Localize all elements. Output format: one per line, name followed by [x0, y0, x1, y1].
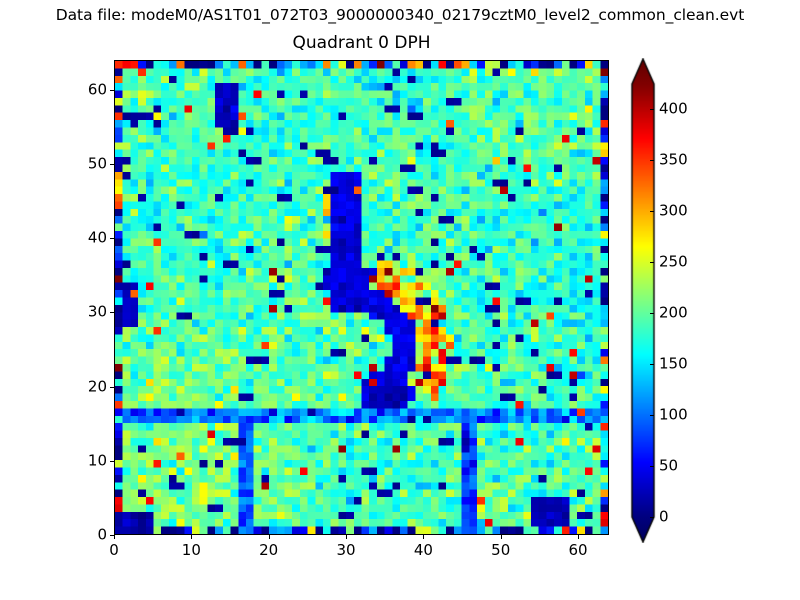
- colorbar-tick-mark: [650, 160, 654, 161]
- colorbar-tick-label: 250: [659, 254, 688, 271]
- colorbar-tick-label: 50: [659, 458, 678, 475]
- data-file-caption: Data file: modeM0/AS1T01_072T03_90000003…: [0, 6, 800, 25]
- colorbar-tick-mark: [650, 262, 654, 263]
- colorbar-tick-mark: [650, 466, 654, 467]
- colorbar-tick-mark: [650, 211, 654, 212]
- colorbar-tick-mark: [650, 415, 654, 416]
- colorbar-tick-label: 350: [659, 152, 688, 169]
- y-tick-mark: [110, 90, 114, 91]
- colorbar-tick-label: 0: [659, 509, 669, 526]
- colorbar-tick-mark: [650, 313, 654, 314]
- x-tick-mark: [578, 535, 579, 539]
- x-tick-mark: [346, 535, 347, 539]
- colorbar-tick-mark: [650, 109, 654, 110]
- colorbar-tick-label: 100: [659, 407, 688, 424]
- figure-canvas: Data file: modeM0/AS1T01_072T03_90000003…: [0, 0, 800, 600]
- y-tick-mark: [110, 312, 114, 313]
- y-tick-mark: [110, 164, 114, 165]
- x-tick-label: 20: [259, 542, 278, 559]
- colorbar[interactable]: [626, 58, 660, 543]
- colorbar-tick-label: 400: [659, 101, 688, 118]
- x-tick-label: 10: [182, 542, 201, 559]
- x-tick-label: 40: [414, 542, 433, 559]
- y-tick-label: 30: [88, 304, 107, 321]
- heatmap-axes[interactable]: [114, 60, 609, 535]
- y-tick-label: 40: [88, 230, 107, 247]
- y-tick-label: 0: [97, 527, 107, 544]
- y-tick-label: 10: [88, 452, 107, 469]
- y-tick-mark: [110, 387, 114, 388]
- y-tick-mark: [110, 238, 114, 239]
- x-tick-label: 50: [491, 542, 510, 559]
- colorbar-tick-label: 150: [659, 356, 688, 373]
- page-title: Quadrant 0 DPH: [114, 33, 609, 54]
- x-tick-label: 60: [569, 542, 588, 559]
- colorbar-tick-mark: [650, 364, 654, 365]
- y-tick-label: 60: [88, 81, 107, 98]
- x-tick-mark: [269, 535, 270, 539]
- x-tick-label: 0: [109, 542, 119, 559]
- x-tick-mark: [501, 535, 502, 539]
- y-tick-mark: [110, 461, 114, 462]
- y-tick-label: 20: [88, 378, 107, 395]
- x-tick-mark: [114, 535, 115, 539]
- y-tick-label: 50: [88, 155, 107, 172]
- colorbar-tick-label: 300: [659, 203, 688, 220]
- heatmap-image[interactable]: [115, 61, 608, 534]
- colorbar-tick-mark: [650, 517, 654, 518]
- x-tick-mark: [191, 535, 192, 539]
- colorbar-gradient: [626, 58, 660, 543]
- x-tick-mark: [423, 535, 424, 539]
- x-tick-label: 30: [336, 542, 355, 559]
- colorbar-tick-label: 200: [659, 305, 688, 322]
- y-tick-mark: [110, 535, 114, 536]
